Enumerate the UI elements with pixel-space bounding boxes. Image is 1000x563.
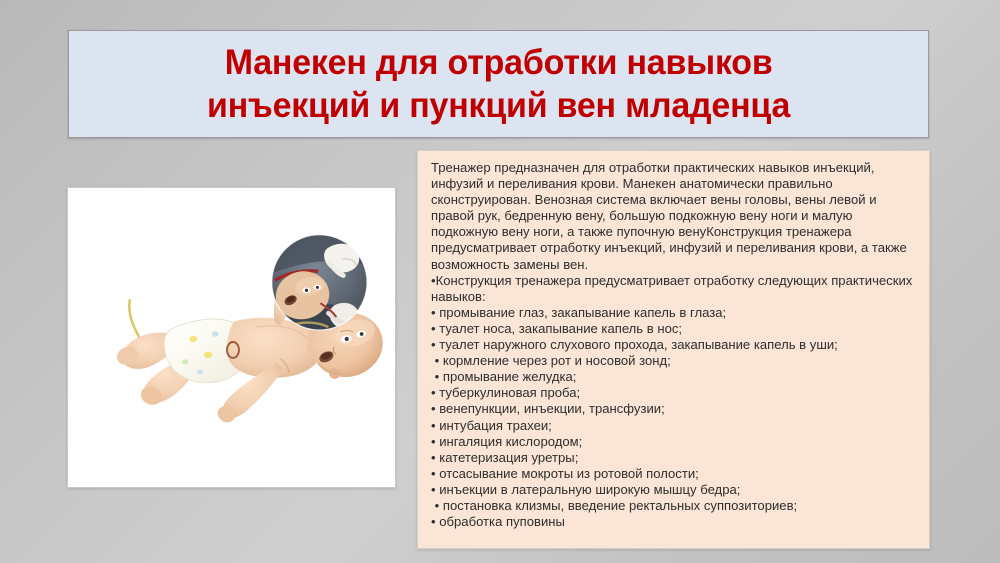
- infant-mannequin-photo: [68, 188, 395, 487]
- list-item: • промывание глаз, закапывание капель в …: [431, 305, 917, 321]
- inset-circle-photo: [271, 235, 367, 330]
- list-item: • катетеризация уретры;: [431, 450, 917, 466]
- list-item: • венепункции, инъекции, трансфузии;: [431, 401, 917, 417]
- list-item: • кормление через рот и носовой зонд;: [431, 353, 917, 369]
- list-item: • постановка клизмы, введение ректальных…: [431, 498, 917, 514]
- list-item: • туалет носа, закапывание капель в нос;: [431, 321, 917, 337]
- list-item: • ингаляция кислородом;: [431, 434, 917, 450]
- list-item: • инъекции в латеральную широкую мышцу б…: [431, 482, 917, 498]
- description-panel: Тренажер предназначен для отработки прак…: [417, 150, 930, 549]
- skills-bullet-list: •Конструкция тренажера предусматривает о…: [431, 273, 917, 531]
- intro-paragraph: Тренажер предназначен для отработки прак…: [431, 160, 917, 273]
- list-item: • интубация трахеи;: [431, 418, 917, 434]
- page-title: Манекен для отработки навыков инъекций и…: [207, 41, 790, 127]
- list-item: • туберкулиновая проба;: [431, 385, 917, 401]
- list-item: • отсасывание мокроты из ротовой полости…: [431, 466, 917, 482]
- picture-panel: [67, 187, 396, 488]
- list-item: •Конструкция тренажера предусматривает о…: [431, 273, 917, 305]
- list-item: • обработка пуповины: [431, 514, 917, 530]
- title-banner: Манекен для отработки навыков инъекций и…: [68, 30, 929, 138]
- presentation-slide: Манекен для отработки навыков инъекций и…: [0, 0, 1000, 563]
- list-item: • промывание желудка;: [431, 369, 917, 385]
- list-item: • туалет наружного слухового прохода, за…: [431, 337, 917, 353]
